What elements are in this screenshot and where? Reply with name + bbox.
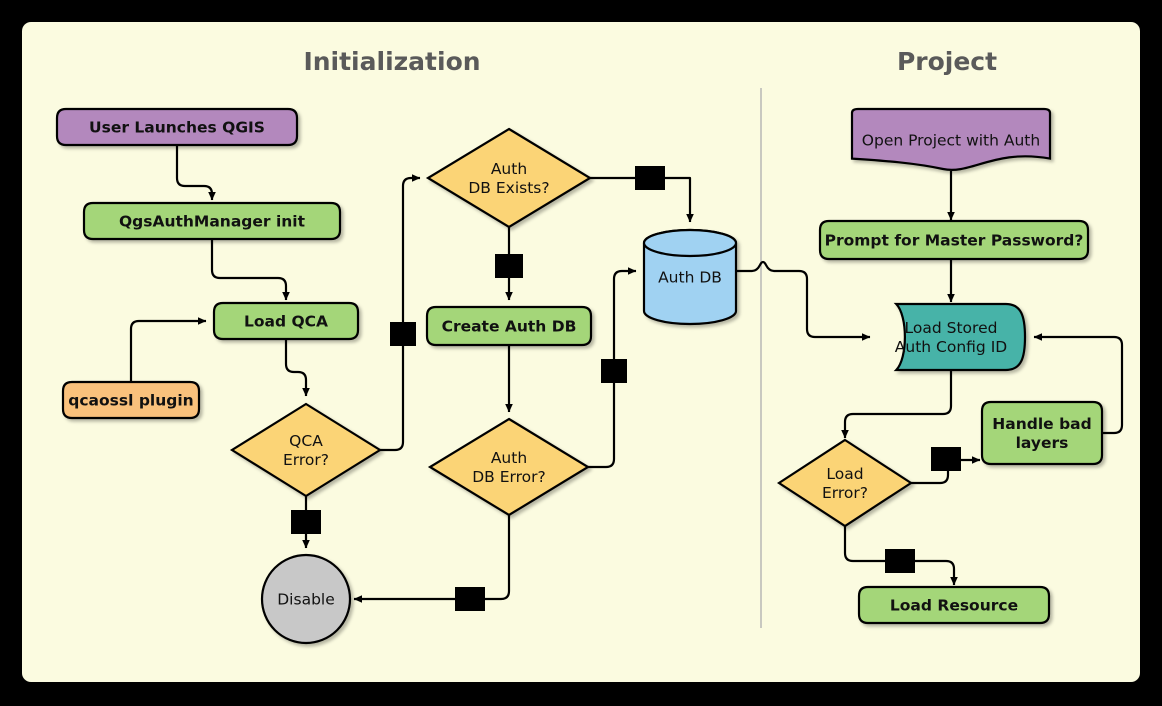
edge-user-launches-qgis-to-qgsauthmanager-init [177, 145, 212, 200]
node-auth-db-error: AuthDB Error? [430, 419, 588, 515]
node-shape-rounded-rect [982, 402, 1102, 464]
section-titles-layer: Initialization Project [303, 47, 997, 76]
node-auth-db: Auth DB [644, 230, 736, 324]
node-shape-diamond [779, 440, 911, 526]
node-create-auth-db: Create Auth DB [427, 307, 591, 345]
node-label-qcaossl-plugin: qcaossl plugin [68, 392, 193, 410]
node-label-create-auth-db: Create Auth DB [442, 318, 577, 336]
label-box-authdbexists-yes [635, 166, 665, 190]
edge-load-qca-to-qca-error [286, 339, 306, 396]
node-label-auth-db-error: Auth [491, 449, 527, 467]
section-title-project: Project [897, 47, 997, 76]
edge-auth-db-error-to-disable [354, 515, 509, 599]
label-box-authdberror-yes [455, 587, 485, 611]
node-load-resource: Load Resource [859, 587, 1049, 623]
label-box-qcaerror-loop [390, 322, 416, 346]
label-box-authdberror-no [601, 359, 627, 383]
node-label-load-resource: Load Resource [890, 597, 1018, 615]
edge-qcaossl-plugin-to-load-qca [131, 321, 206, 382]
label-box-authdbexists-no [495, 254, 523, 278]
node-label-load-error: Error? [822, 484, 868, 502]
node-label-qca-error: QCA [289, 432, 323, 450]
node-label-handle-bad-layers: Handle bad [992, 415, 1091, 433]
node-shape-tape [896, 304, 1025, 370]
node-label-qgsauthmanager-init: QgsAuthManager init [119, 213, 306, 231]
edge-qca-error-to-auth-db-exists [380, 178, 420, 450]
node-load-stored-auth-config-id: Load StoredAuth Config ID [895, 304, 1025, 370]
label-box-loaderror-no [885, 549, 915, 573]
node-label-load-qca: Load QCA [244, 313, 328, 331]
node-label-auth-db-exists: Auth [491, 160, 527, 178]
label-box-qcaerror-yes [291, 510, 321, 534]
label-box-loaderror-yes [931, 447, 961, 471]
node-label-qca-error: Error? [283, 451, 329, 469]
node-qcaossl-plugin: qcaossl plugin [63, 382, 199, 418]
node-label-auth-db-error: DB Error? [472, 468, 546, 486]
node-handle-bad-layers: Handle badlayers [982, 402, 1102, 464]
node-label-open-project-with-auth: Open Project with Auth [862, 132, 1040, 150]
node-label-auth-db-exists: DB Exists? [468, 179, 549, 197]
node-label-auth-db: Auth DB [658, 269, 722, 287]
node-prompt-master-password: Prompt for Master Password? [820, 221, 1088, 259]
node-load-error: LoadError? [779, 440, 911, 526]
flowchart-canvas: User Launches QGISQgsAuthManager initLoa… [0, 0, 1162, 706]
node-shape-diamond [430, 419, 588, 515]
node-label-handle-bad-layers: layers [1016, 434, 1069, 452]
node-load-qca: Load QCA [214, 303, 358, 339]
node-shape-diamond [232, 404, 380, 496]
node-disable: Disable [262, 555, 350, 643]
node-qca-error: QCAError? [232, 404, 380, 496]
node-qgsauthmanager-init: QgsAuthManager init [84, 203, 340, 239]
node-auth-db-exists: AuthDB Exists? [428, 129, 590, 227]
node-open-project-with-auth: Open Project with Auth [852, 109, 1050, 170]
screenshot-root: User Launches QGISQgsAuthManager initLoa… [0, 0, 1162, 706]
node-label-disable: Disable [277, 591, 335, 609]
node-label-load-stored-auth-config-id: Load Stored [905, 319, 998, 337]
edge-load-stored-auth-config-id-to-load-error [845, 370, 951, 438]
node-label-user-launches-qgis: User Launches QGIS [89, 119, 265, 137]
edge-auth-db-to-load-stored-auth-config-id [736, 262, 870, 337]
node-user-launches-qgis: User Launches QGIS [57, 109, 297, 145]
nodes-layer: User Launches QGISQgsAuthManager initLoa… [57, 109, 1102, 643]
section-title-initialization: Initialization [303, 47, 480, 76]
node-shape-cylinder-top [644, 230, 736, 256]
edge-qgsauthmanager-init-to-load-qca [212, 239, 286, 300]
node-shape-diamond [428, 129, 590, 227]
node-label-load-error: Load [826, 465, 863, 483]
node-label-prompt-master-password: Prompt for Master Password? [825, 232, 1084, 250]
node-label-load-stored-auth-config-id: Auth Config ID [895, 338, 1007, 356]
